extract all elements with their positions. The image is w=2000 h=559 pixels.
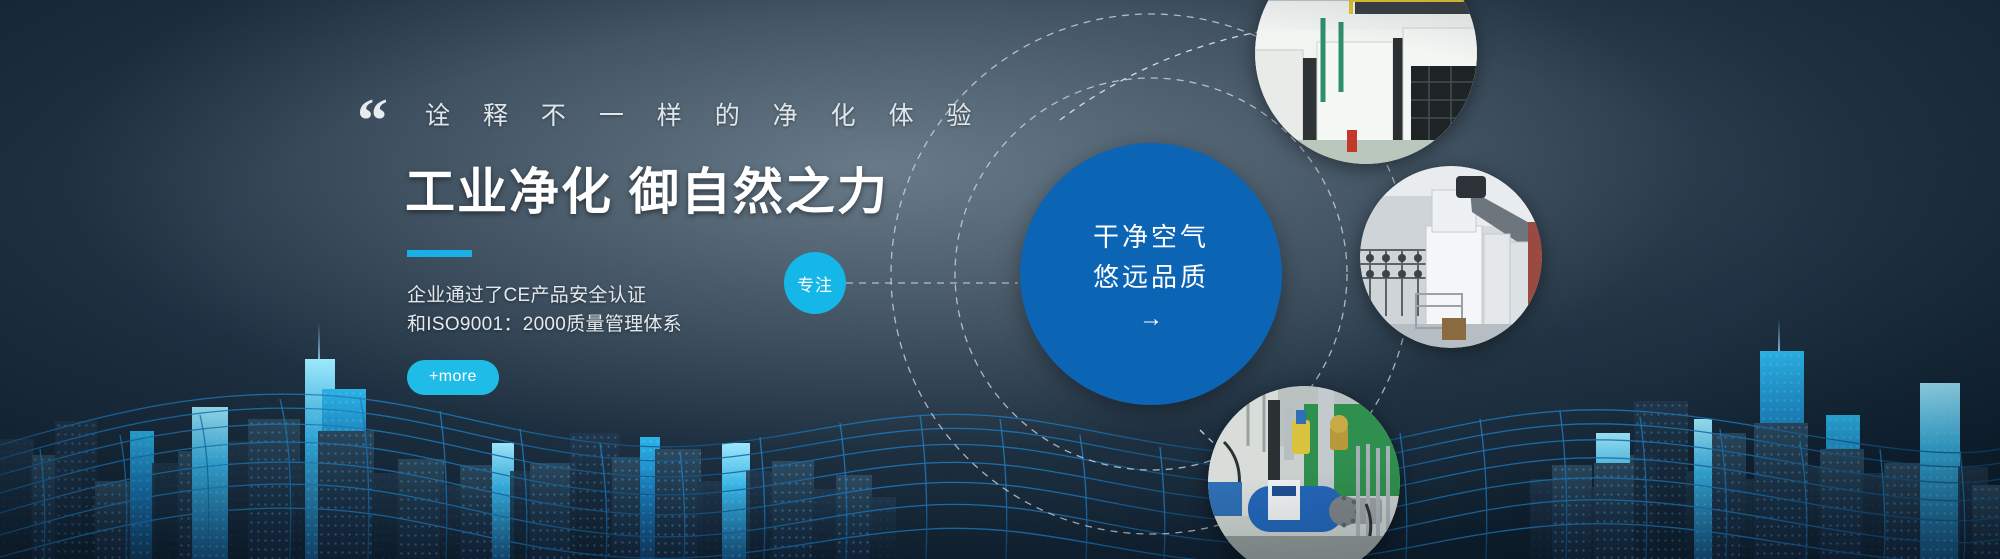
focus-badge[interactable]: 专注 [784,252,846,314]
title-underline-rule [407,250,472,257]
hero-banner: “ 诠 释 不 一 样 的 净 化 体 验 工业净化 御自然之力 企业通过了CE… [0,0,2000,559]
quote-mark-icon: “ [357,90,386,152]
main-circle-line-1: 干净空气 [1093,217,1209,257]
main-feature-circle[interactable]: 干净空气 悠远品质 → [1020,143,1282,405]
focus-badge-label: 专注 [797,271,833,296]
arrow-right-icon: → [1139,307,1163,331]
graphic-cluster: 专注 干净空气 悠远品质 → [760,0,2000,559]
main-circle-line-2: 悠远品质 [1093,257,1209,297]
more-button[interactable]: +more [407,360,499,395]
textile-machinery-photo[interactable] [1360,166,1542,348]
